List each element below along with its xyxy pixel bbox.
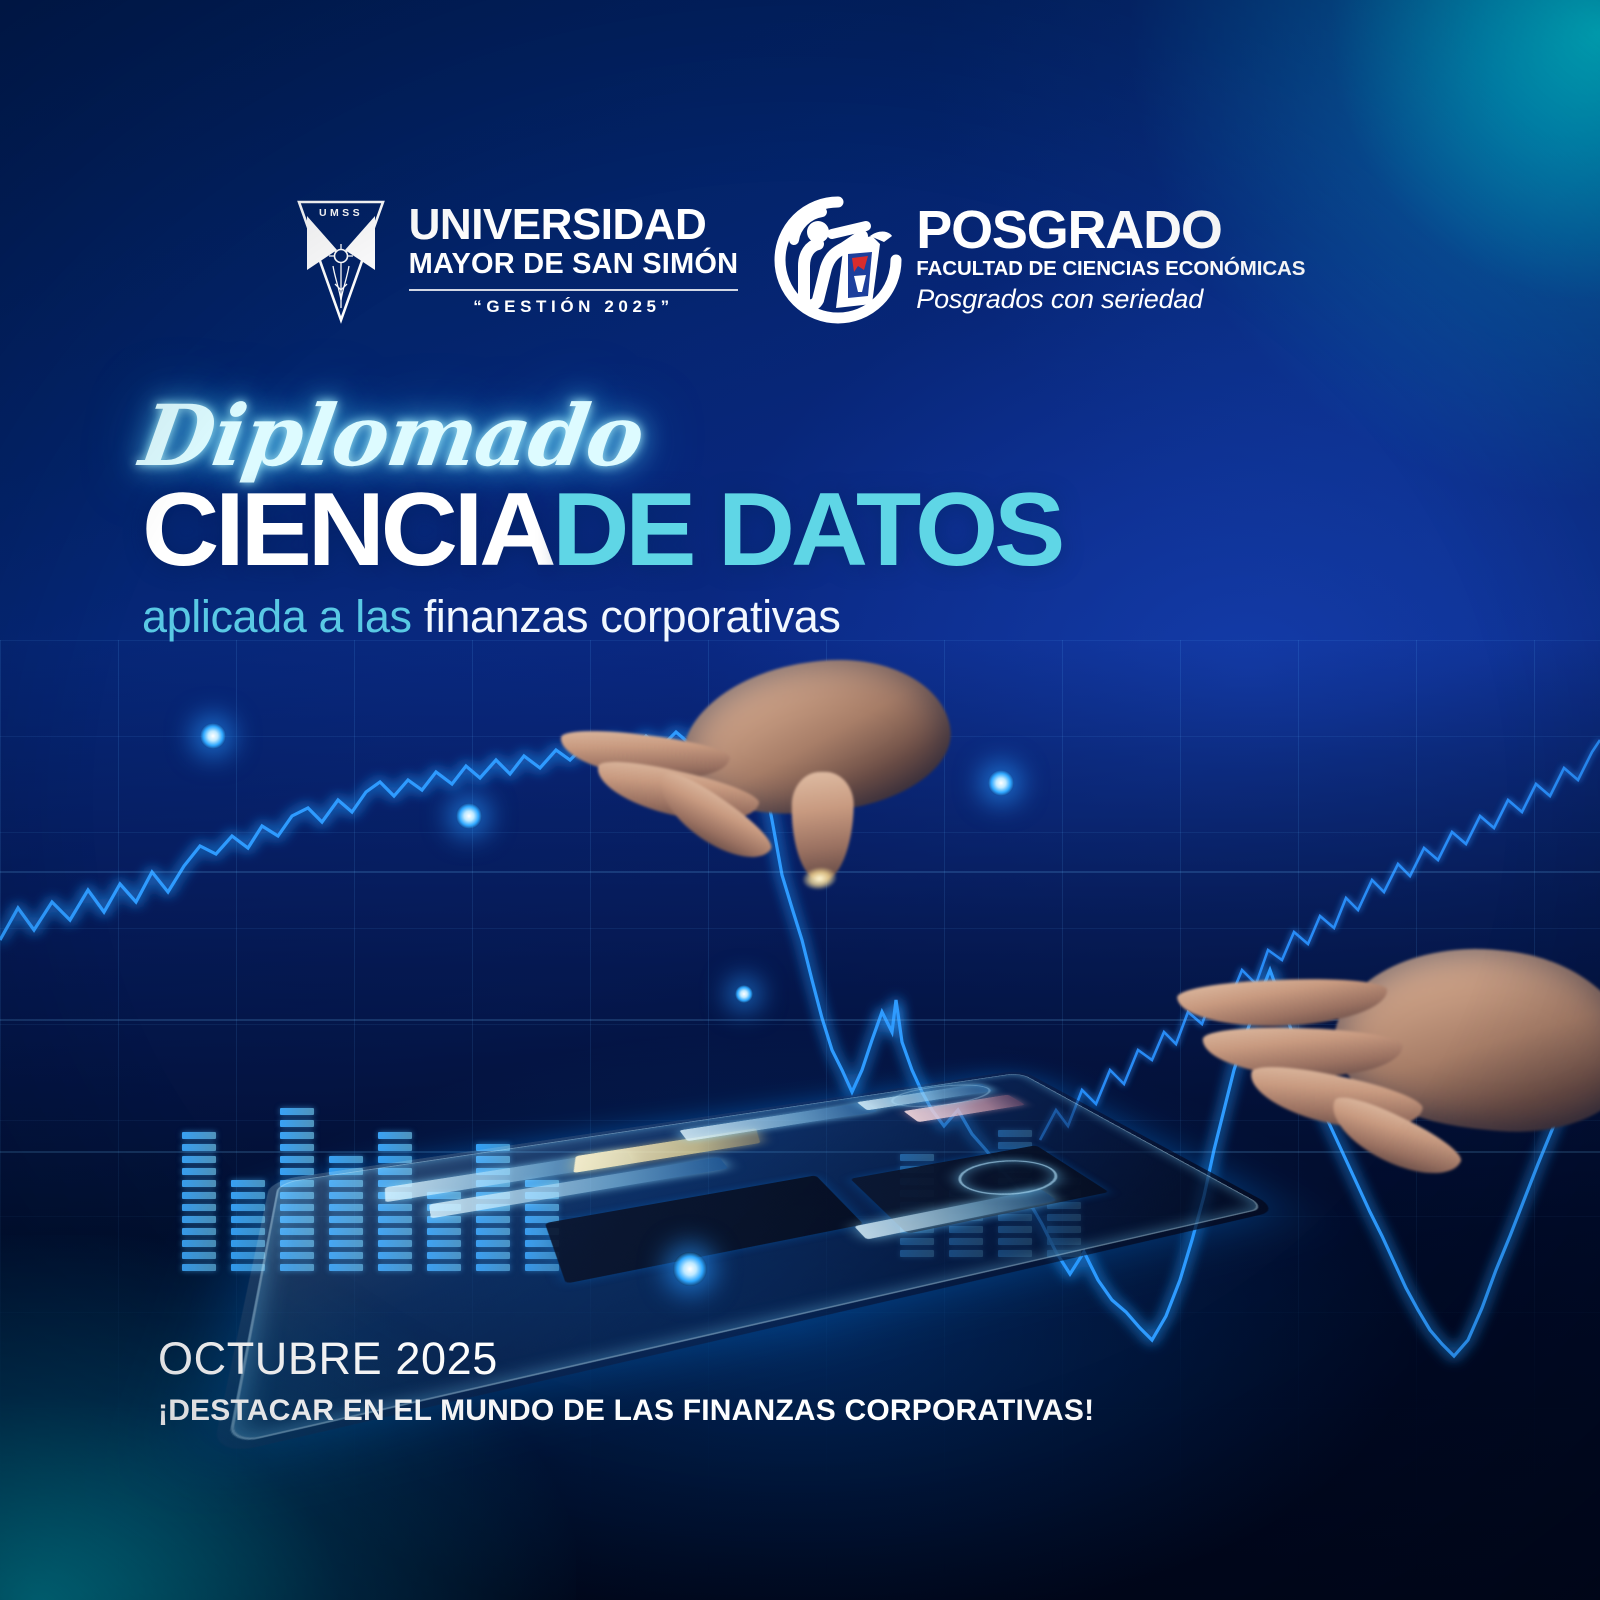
umss-line3: “GESTIÓN 2025” — [409, 297, 739, 317]
posgrado-logo: POSGRADO FACULTAD DE CIENCIAS ECONÓMICAS… — [774, 196, 1305, 324]
finger — [790, 771, 854, 882]
start-date: OCTUBRE 2025 — [158, 1334, 1094, 1384]
subtitle-part-cyan: aplicada a las — [142, 591, 412, 642]
subtitle-part-white: finanzas corporativas — [424, 591, 841, 642]
posgrado-wordmark: POSGRADO FACULTAD DE CIENCIAS ECONÓMICAS… — [916, 205, 1305, 316]
headline-block: Diplomado CIENCIADE DATOS aplicada a las… — [142, 396, 1034, 641]
title-part-white: CIENCIA — [142, 472, 552, 588]
left-hand — [523, 645, 986, 995]
right-hand — [1146, 906, 1600, 1253]
chart-node-marker — [200, 723, 226, 749]
umss-logo: UMSS UNIVERSIDAD MAYOR DE SAN SIMÓN “GES… — [295, 196, 739, 324]
chart-node-marker — [673, 1252, 707, 1286]
umss-line1: UNIVERSIDAD — [409, 203, 739, 247]
chart-node-marker — [456, 803, 482, 829]
kicker-diplomado: Diplomado — [136, 396, 1041, 476]
svg-text:UMSS: UMSS — [319, 207, 363, 219]
umss-wordmark: UNIVERSIDAD MAYOR DE SAN SIMÓN “GESTIÓN … — [409, 203, 739, 316]
promotional-poster: UMSS UNIVERSIDAD MAYOR DE SAN SIMÓN “GES… — [0, 0, 1600, 1600]
posgrado-line1: POSGRADO — [916, 205, 1305, 257]
eq-column — [182, 1132, 216, 1271]
footer-block: OCTUBRE 2025 ¡DESTACAR EN EL MUNDO DE LA… — [158, 1334, 1094, 1427]
page-title: CIENCIADE DATOS — [142, 482, 1061, 580]
chart-node-marker — [735, 985, 753, 1003]
umss-triangle-emblem: UMSS — [295, 196, 387, 324]
chart-node-marker — [988, 770, 1014, 796]
background-photo-scene — [0, 640, 1600, 1600]
umss-line2: MAYOR DE SAN SIMÓN — [409, 247, 739, 281]
posgrado-line3: Posgrados con seriedad — [916, 283, 1305, 315]
logo-row: UMSS UNIVERSIDAD MAYOR DE SAN SIMÓN “GES… — [0, 196, 1600, 324]
subtitle: aplicada a las finanzas corporativas — [142, 592, 1034, 642]
posgrado-line2: FACULTAD DE CIENCIAS ECONÓMICAS — [916, 256, 1305, 282]
posgrado-figure-book-emblem — [774, 196, 902, 324]
tagline: ¡DESTACAR EN EL MUNDO DE LAS FINANZAS CO… — [158, 1394, 1094, 1427]
umss-divider — [409, 289, 739, 291]
title-part-cyan: DE DATOS — [552, 472, 1061, 588]
